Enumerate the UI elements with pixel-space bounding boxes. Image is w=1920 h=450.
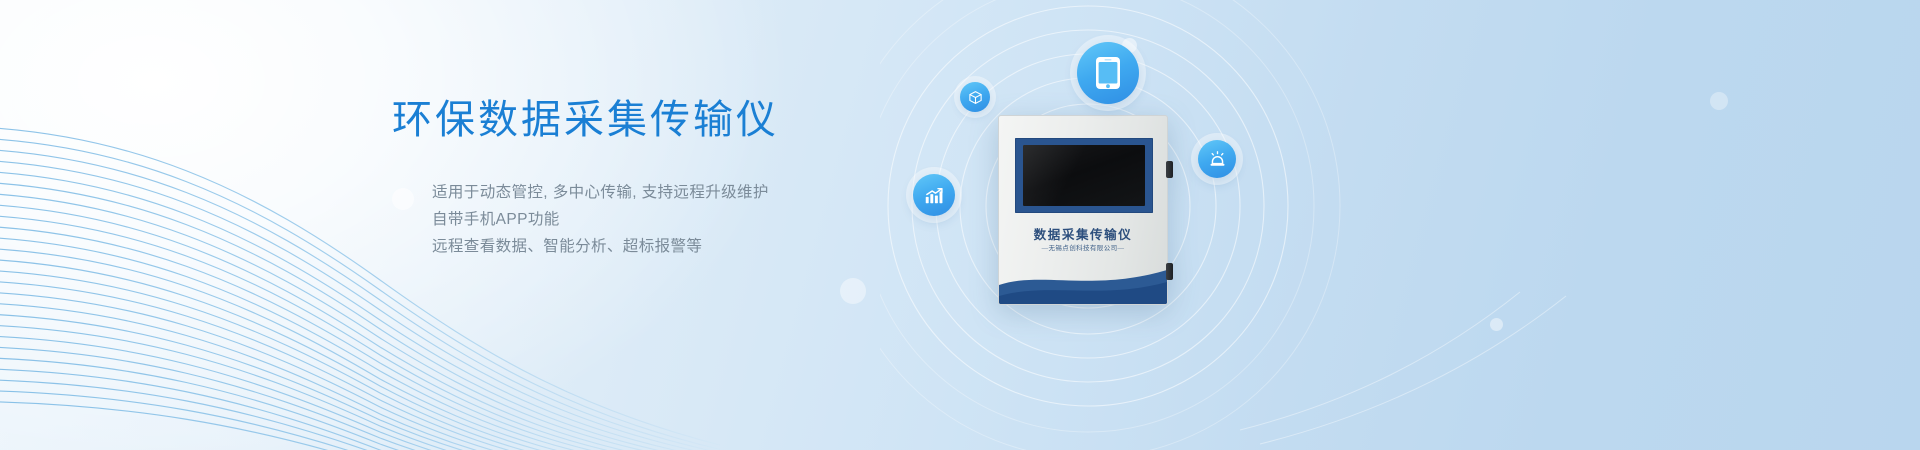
banner-subtitle-list: 适用于动态管控, 多中心传输, 支持远程升级维护 自带手机APP功能 远程查看数… <box>392 179 912 260</box>
banner-subtitle-line-2: 自带手机APP功能 <box>432 206 912 233</box>
cube-icon[interactable] <box>960 82 990 112</box>
device-screen <box>1023 145 1145 206</box>
device-hinge <box>1166 263 1173 280</box>
device-body: 数据采集传输仪 —无锡点创科技有限公司— <box>998 115 1168 305</box>
alarm-icon[interactable] <box>1198 140 1236 178</box>
device-bottom-wave <box>999 258 1167 304</box>
device-sublabel: —无锡点创科技有限公司— <box>999 242 1167 252</box>
banner-copy: 环保数据采集传输仪 适用于动态管控, 多中心传输, 支持远程升级维护 自带手机A… <box>392 95 912 260</box>
banner-subtitle-line-1: 适用于动态管控, 多中心传输, 支持远程升级维护 <box>432 179 912 206</box>
phone-icon[interactable] <box>1077 42 1139 104</box>
chart-icon[interactable] <box>913 174 955 216</box>
device-screen-bezel <box>1015 138 1153 213</box>
product-banner: 环保数据采集传输仪 适用于动态管控, 多中心传输, 支持远程升级维护 自带手机A… <box>0 0 1920 450</box>
banner-subtitle-line-3: 远程查看数据、智能分析、超标报警等 <box>432 233 912 260</box>
bokeh-dot <box>840 278 866 304</box>
device-label: 数据采集传输仪 <box>999 224 1167 243</box>
device-hinge <box>1166 161 1173 178</box>
device-photo: 数据采集传输仪 —无锡点创科技有限公司— <box>998 115 1168 305</box>
banner-title: 环保数据采集传输仪 <box>392 95 912 145</box>
banner-visual: 数据采集传输仪 —无锡点创科技有限公司— <box>880 0 1920 450</box>
